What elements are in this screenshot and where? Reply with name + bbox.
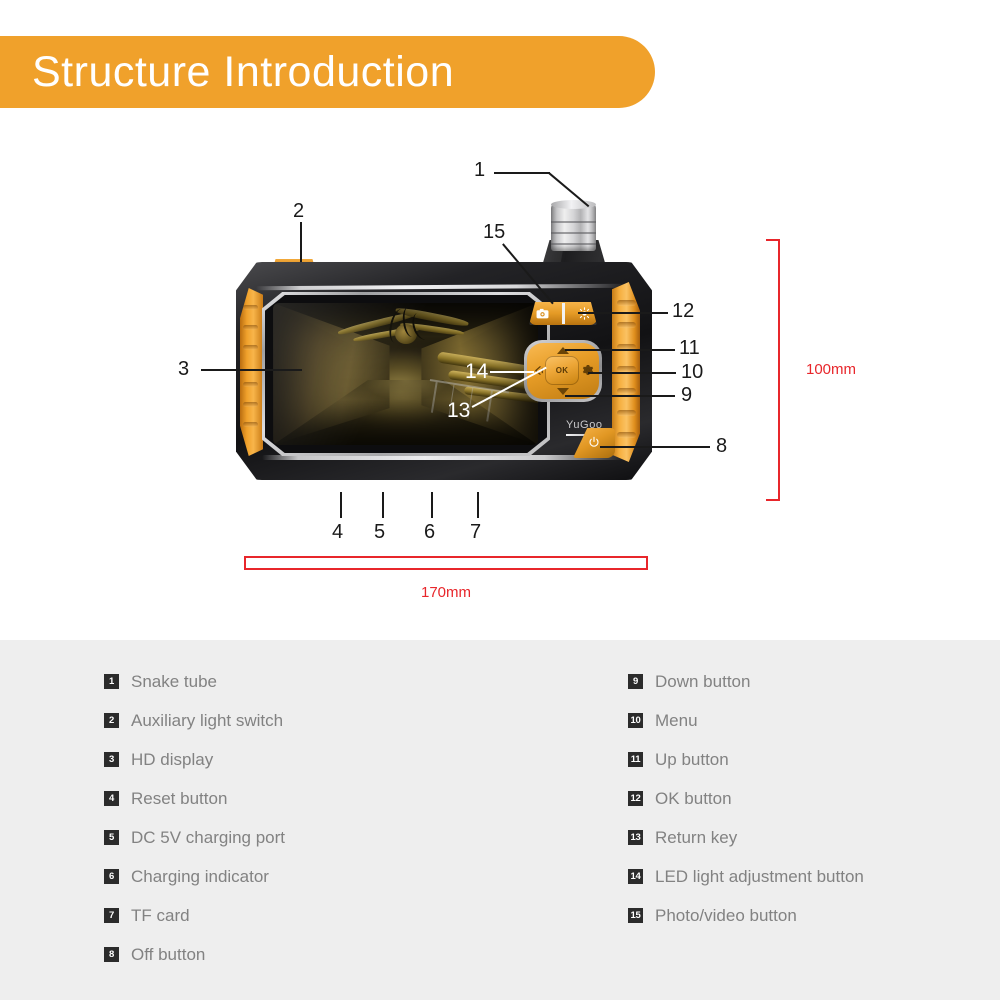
legend-label: DC 5V charging port bbox=[131, 828, 285, 848]
legend-item: 15Photo/video button bbox=[628, 896, 864, 935]
callout-number-5: 5 bbox=[374, 521, 385, 544]
triangle-down-icon[interactable] bbox=[557, 388, 569, 395]
callout-number-13: 13 bbox=[447, 399, 470, 423]
callout-leader-2 bbox=[300, 222, 302, 262]
grip-ridge bbox=[243, 345, 258, 350]
callout-leader-14 bbox=[490, 371, 534, 373]
legend-label: Auxiliary light switch bbox=[131, 711, 283, 731]
grip-ridge bbox=[243, 325, 258, 330]
legend-label: Snake tube bbox=[131, 672, 217, 692]
callout-leader-12 bbox=[578, 312, 668, 314]
legend-label: Down button bbox=[655, 672, 750, 692]
legend-item: 9Down button bbox=[628, 662, 864, 701]
legend-label: Menu bbox=[655, 711, 698, 731]
callout-number-2: 2 bbox=[293, 200, 304, 223]
connector-knurl-ring bbox=[551, 243, 596, 245]
legend-badge: 10 bbox=[628, 713, 643, 728]
device-illustration: OK YuGoo 1 2 3 4 5 6 7 bbox=[0, 0, 1000, 640]
grip-ridge bbox=[243, 402, 258, 407]
legend-label: Charging indicator bbox=[131, 867, 269, 887]
legend-badge: 9 bbox=[628, 674, 643, 689]
callout-leader-6 bbox=[431, 492, 433, 518]
legend-badge: 13 bbox=[628, 830, 643, 845]
legend-item: 14LED light adjustment button bbox=[628, 857, 864, 896]
legend-label: Off button bbox=[131, 945, 205, 965]
power-icon bbox=[588, 435, 600, 453]
callout-number-9: 9 bbox=[681, 384, 692, 407]
hd-display[interactable] bbox=[273, 303, 538, 445]
legend-item: 6Charging indicator bbox=[104, 857, 285, 896]
callout-number-4: 4 bbox=[332, 521, 343, 544]
legend-label: Up button bbox=[655, 750, 729, 770]
legend-item: 5DC 5V charging port bbox=[104, 818, 285, 857]
callout-number-14: 14 bbox=[465, 360, 488, 384]
legend-label: Photo/video button bbox=[655, 906, 797, 926]
legend-item: 13Return key bbox=[628, 818, 864, 857]
callout-number-11: 11 bbox=[679, 337, 700, 360]
callout-number-3: 3 bbox=[178, 358, 189, 381]
callout-number-12: 12 bbox=[672, 300, 694, 323]
legend-item: 12OK button bbox=[628, 779, 864, 818]
legend-item: 7TF card bbox=[104, 896, 285, 935]
legend-badge: 8 bbox=[104, 947, 119, 962]
callout-number-15: 15 bbox=[483, 221, 505, 244]
grip-ridge bbox=[617, 300, 636, 306]
height-dimension-rule bbox=[778, 239, 780, 501]
legend-badge: 1 bbox=[104, 674, 119, 689]
callout-leader-4 bbox=[340, 492, 342, 518]
legend-column-right: 9Down button10Menu11Up button12OK button… bbox=[628, 662, 864, 935]
connector-knurl-ring bbox=[551, 221, 596, 223]
callout-leader-1 bbox=[494, 172, 550, 174]
width-dimension-label: 170mm bbox=[0, 584, 892, 601]
ok-button-label: OK bbox=[556, 366, 569, 375]
callout-leader-8 bbox=[600, 446, 710, 448]
legend-item: 11Up button bbox=[628, 740, 864, 779]
screen-vignette bbox=[273, 303, 538, 445]
connector-top-cap bbox=[551, 200, 596, 209]
pill-divider bbox=[562, 303, 565, 324]
legend-badge: 6 bbox=[104, 869, 119, 884]
grip-ridge bbox=[243, 422, 258, 427]
legend-badge: 14 bbox=[628, 869, 643, 884]
legend-item: 10Menu bbox=[628, 701, 864, 740]
grip-ridge bbox=[617, 432, 636, 438]
legend-label: LED light adjustment button bbox=[655, 867, 864, 887]
callout-leader-9 bbox=[565, 395, 675, 397]
callout-leader-7 bbox=[477, 492, 479, 518]
legend-badge: 3 bbox=[104, 752, 119, 767]
callout-number-7: 7 bbox=[470, 521, 481, 544]
legend-label: Return key bbox=[655, 828, 737, 848]
ok-button[interactable]: OK bbox=[545, 356, 579, 385]
height-dimension-label: 100mm bbox=[806, 361, 856, 378]
legend-column-left: 1Snake tube2Auxiliary light switch3HD di… bbox=[104, 662, 285, 974]
legend-label: OK button bbox=[655, 789, 732, 809]
grip-left bbox=[240, 288, 263, 456]
connector-knurl-ring bbox=[551, 232, 596, 234]
callout-leader-3 bbox=[201, 369, 302, 371]
width-dimension-bracket bbox=[244, 556, 648, 570]
legend-item: 2Auxiliary light switch bbox=[104, 701, 285, 740]
callout-number-6: 6 bbox=[424, 521, 435, 544]
grip-ridge bbox=[617, 322, 636, 328]
callout-leader-11 bbox=[565, 349, 675, 351]
legend-item: 1Snake tube bbox=[104, 662, 285, 701]
legend-badge: 11 bbox=[628, 752, 643, 767]
legend-label: HD display bbox=[131, 750, 213, 770]
legend-badge: 5 bbox=[104, 830, 119, 845]
callout-number-1: 1 bbox=[474, 159, 485, 182]
grip-ridge bbox=[617, 388, 636, 394]
legend-item: 4Reset button bbox=[104, 779, 285, 818]
legend-section: 1Snake tube2Auxiliary light switch3HD di… bbox=[0, 640, 1000, 1000]
callout-leader-10 bbox=[588, 372, 676, 374]
legend-badge: 4 bbox=[104, 791, 119, 806]
legend-badge: 12 bbox=[628, 791, 643, 806]
width-dimension-rule bbox=[244, 556, 648, 558]
grip-ridge bbox=[243, 382, 258, 387]
callout-number-8: 8 bbox=[716, 435, 727, 458]
callout-number-10: 10 bbox=[681, 361, 703, 384]
legend-badge: 15 bbox=[628, 908, 643, 923]
hero-section: Structure Introduction bbox=[0, 0, 1000, 640]
legend-label: TF card bbox=[131, 906, 190, 926]
grip-ridge bbox=[617, 410, 636, 416]
legend-label: Reset button bbox=[131, 789, 227, 809]
grip-ridge bbox=[243, 305, 258, 310]
callout-leader-5 bbox=[382, 492, 384, 518]
gear-icon[interactable] bbox=[581, 362, 595, 378]
legend-badge: 7 bbox=[104, 908, 119, 923]
legend-item: 8Off button bbox=[104, 935, 285, 974]
legend-item: 3HD display bbox=[104, 740, 285, 779]
legend-badge: 2 bbox=[104, 713, 119, 728]
